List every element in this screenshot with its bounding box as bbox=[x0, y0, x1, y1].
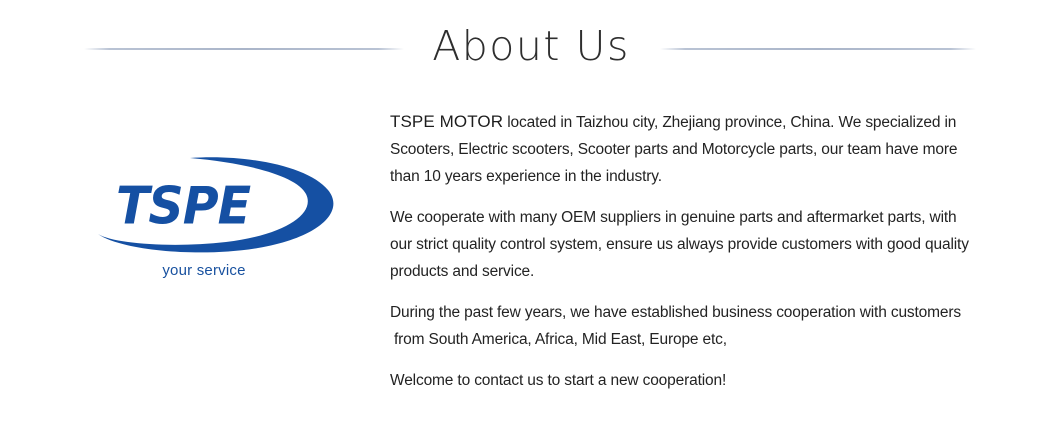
about-paragraph-3-line-2: from South America, Africa, Mid East, Eu… bbox=[390, 326, 727, 353]
company-logo: TSPE your service bbox=[78, 152, 344, 292]
divider-line-right bbox=[660, 48, 976, 50]
about-paragraph-3-line-1: During the past few years, we have estab… bbox=[390, 304, 961, 321]
logo-wordmark: TSPE bbox=[78, 180, 344, 232]
company-name: TSPE MOTOR bbox=[390, 112, 503, 131]
about-paragraph-2: We cooperate with many OEM suppliers in … bbox=[390, 204, 972, 285]
about-paragraph-3: During the past few years, we have estab… bbox=[390, 299, 972, 353]
logo-mark: TSPE bbox=[78, 152, 344, 256]
about-paragraph-1: TSPE MOTOR located in Taizhou city, Zhej… bbox=[390, 108, 972, 190]
section-header: About Us bbox=[0, 0, 1060, 96]
page-title: About Us bbox=[432, 26, 630, 71]
logo-tagline: your service bbox=[78, 262, 330, 279]
about-paragraph-4: Welcome to contact us to start a new coo… bbox=[390, 367, 972, 394]
about-us-page: About Us TSPE your service TSPE MOTOR lo… bbox=[0, 0, 1060, 424]
about-text-block: TSPE MOTOR located in Taizhou city, Zhej… bbox=[390, 108, 972, 394]
divider-line-left bbox=[84, 48, 404, 50]
